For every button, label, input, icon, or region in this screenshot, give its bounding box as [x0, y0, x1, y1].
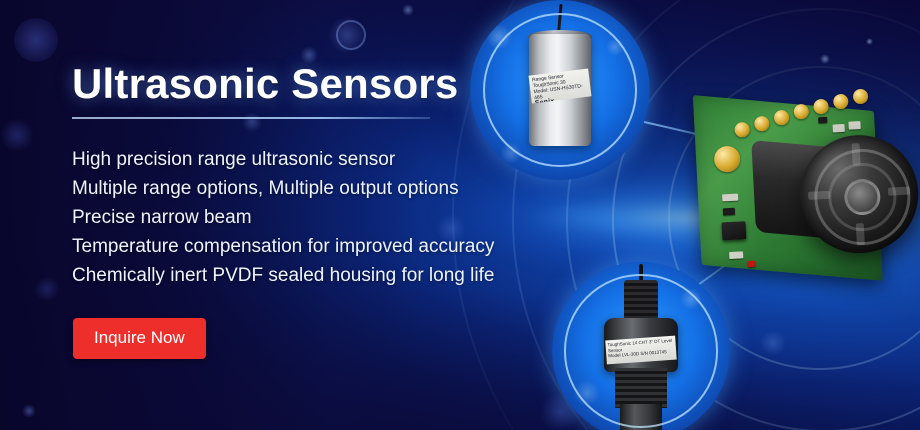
header-pin	[833, 94, 849, 110]
smd-component	[833, 124, 845, 133]
bokeh-dot	[866, 38, 873, 45]
inset-ring	[483, 13, 638, 168]
transducer-slot	[888, 187, 910, 196]
cylinder-sensor-inset: Range Sensor ToughSonic 30 Model: USN-HS…	[470, 0, 650, 180]
ultrasonic-sensors-banner: Ultrasonic Sensors High precision range …	[0, 0, 920, 430]
page-title: Ultrasonic Sensors	[72, 60, 458, 108]
smd-component	[818, 117, 827, 123]
inquire-now-button[interactable]: Inquire Now	[73, 318, 206, 359]
feature-item: Chemically inert PVDF sealed housing for…	[72, 261, 552, 290]
transducer-slot	[808, 191, 830, 200]
smd-component	[722, 194, 738, 202]
smd-component	[723, 208, 735, 216]
feature-item: Temperature compensation for improved ac…	[72, 232, 552, 261]
header-pin	[853, 89, 869, 105]
bokeh-dot	[760, 330, 786, 356]
title-divider	[72, 117, 430, 119]
inset-ring	[564, 274, 717, 427]
smd-component	[848, 121, 860, 130]
led-indicator	[748, 261, 756, 267]
pcb-ultrasonic-sensor	[687, 86, 920, 298]
feature-item: Precise narrow beam	[72, 203, 552, 232]
transducer-slot	[856, 223, 865, 245]
bokeh-dot	[820, 54, 830, 64]
ic-chip	[721, 221, 746, 240]
smd-component	[729, 251, 743, 259]
transducer-slot	[852, 143, 861, 165]
